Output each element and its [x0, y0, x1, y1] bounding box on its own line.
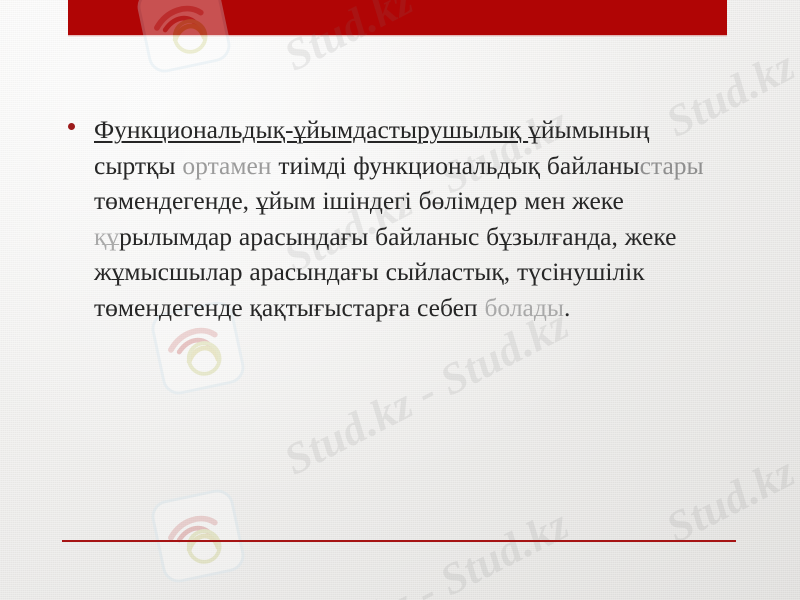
paragraph-text: .	[564, 293, 570, 322]
paragraph-text: рылымдар арасындағы байланыс бұзылғанда,…	[94, 222, 676, 322]
content-placeholder: Функциональдық-ұйымдастырушылық ұйымының…	[68, 112, 728, 325]
slide-canvas: Stud.kz - Stud.kz Stud.kz - Stud.kz Stud…	[0, 0, 800, 600]
paragraph-text: тиімді функциональдық байланы	[271, 151, 639, 180]
paragraph-text: төмендегенде, ұйым ішіндегі бөлімдер мен…	[94, 186, 624, 215]
title-banner	[68, 0, 727, 35]
bullet-paragraph: Функциональдық-ұйымдастырушылық ұйымының…	[94, 112, 728, 325]
watermark-text: Stud.kz	[658, 446, 800, 554]
paragraph-underlined-term: Функциональдық-ұйымдастырушылық	[94, 115, 528, 144]
footer-divider	[62, 540, 736, 542]
watermark-text: Stud.kz - Stud.kz	[276, 298, 577, 485]
paragraph-text-faded: ортамен	[182, 151, 271, 180]
bullet-dot-icon	[68, 112, 94, 130]
paragraph-text-faded: болады	[484, 293, 564, 322]
watermark-text: Stud.kz - Stud.kz	[276, 498, 577, 600]
paragraph-text-faded: құ	[94, 222, 119, 251]
bullet-list-item: Функциональдық-ұйымдастырушылық ұйымының…	[68, 112, 728, 325]
title-banner-shadow	[68, 35, 727, 37]
stud-kz-logo-icon	[141, 479, 255, 593]
paragraph-text-faded: стары	[640, 151, 704, 180]
